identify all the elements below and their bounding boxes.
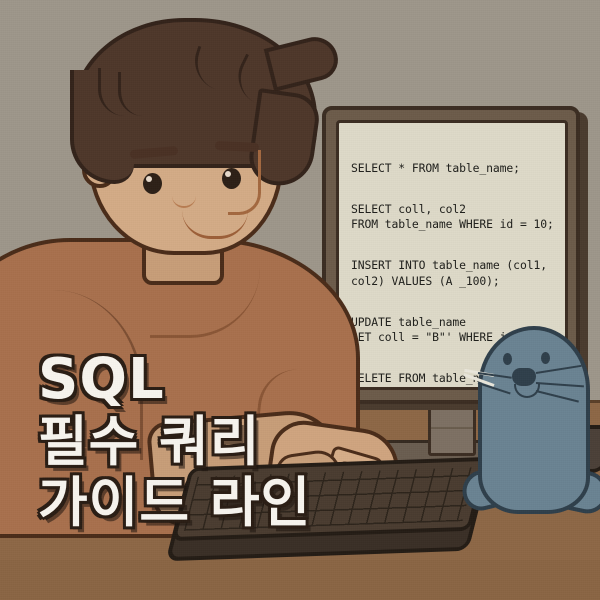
code-block-insert: INSERT INTO table_name (col1, col2) VALU… — [351, 258, 565, 289]
code-line: INSERT INTO table_name (col1, — [351, 258, 547, 272]
code-line: UPDATE table_name — [351, 315, 466, 329]
code-line: SELECT coll, col2 — [351, 202, 466, 216]
desk-front-edge — [0, 560, 600, 600]
code-line: SELECT * FROM table_name; — [351, 161, 520, 175]
nose — [228, 150, 261, 215]
seal-eye-left — [503, 353, 512, 365]
code-line: FROM table_name WHERE id = 10; — [351, 217, 554, 231]
code-line: col2) VALUES (A _100); — [351, 274, 500, 288]
title-line-3: 가이드 라인 — [38, 476, 311, 530]
eye-highlight-right — [225, 171, 231, 177]
eye-highlight-left — [146, 176, 152, 182]
title-line-2: 필수 쿼리 — [38, 415, 311, 469]
code-line: WHERE id = 10; — [351, 387, 446, 391]
code-block-select-columns: SELECT coll, col2 FROM table_name WHERE … — [351, 202, 565, 233]
seal-body — [478, 326, 590, 514]
poster-canvas: SELECT * FROM table_name; SELECT coll, c… — [0, 0, 600, 600]
seal-eye-right — [541, 352, 550, 364]
code-block-select-all: SELECT * FROM table_name; — [351, 161, 565, 177]
title-line-1: SQL — [38, 352, 311, 408]
poster-title-block: SQL 필수 쿼리 가이드 라인 — [38, 352, 311, 537]
